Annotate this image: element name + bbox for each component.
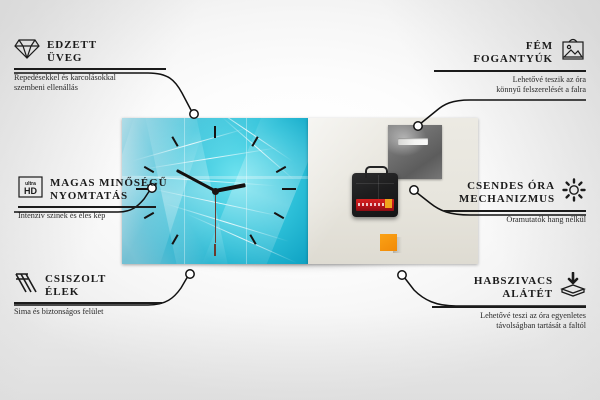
callout-title-line1: CSISZOLT <box>45 273 106 286</box>
second-hand <box>215 191 216 243</box>
callout-title-line2: ÜVEG <box>47 52 97 65</box>
callout-title-line1: HABSZIVACS <box>474 275 553 288</box>
callout-title-line2: ALÁTÉT <box>474 288 553 301</box>
clock-mechanism-housing <box>352 173 398 217</box>
callout-title-line2: ÉLEK <box>45 286 106 299</box>
picture-hanger-icon <box>560 38 586 67</box>
callout-rule <box>434 70 586 72</box>
callout-subtitle-line1: Lehetővé teszi az óra egyenletes <box>432 311 586 321</box>
gear-icon <box>562 178 586 207</box>
connector-dot-tempered-glass <box>190 110 198 118</box>
callout-rule <box>14 68 166 70</box>
callout-polished-edges: CSISZOLT ÉLEK Sima és biztonságos felüle… <box>14 272 162 317</box>
callout-tempered-glass: EDZETT ÜVEG Repedésekkel és karcolásokka… <box>14 38 166 93</box>
callout-subtitle-line2: szembeni ellenállás <box>14 83 166 93</box>
callout-title-line1: CSENDES ÓRA <box>459 180 555 193</box>
metal-hanger-plate <box>388 125 442 179</box>
callout-title-line2: NYOMTATÁS <box>50 190 167 203</box>
polished-edges-icon <box>14 272 38 299</box>
callout-rule <box>14 302 162 304</box>
foam-pad <box>380 234 397 251</box>
callout-rule <box>18 206 156 208</box>
callout-subtitle-line1: Sima és biztonságos felület <box>14 307 162 317</box>
callout-foam-spacer: HABSZIVACS ALÁTÉT Lehetővé teszi az óra … <box>432 272 586 331</box>
ultra-hd-icon: ultra HD <box>18 176 43 203</box>
hanger-slot <box>398 138 428 145</box>
callout-subtitle-line1: Óramutatók hang nélkül <box>444 215 586 225</box>
callout-title-line1: EDZETT <box>47 39 97 52</box>
callout-subtitle-line1: Lehetővé teszik az óra <box>434 75 586 85</box>
clock-hand-hub <box>212 188 219 195</box>
ultra-hd-icon-bottom: HD <box>24 186 37 196</box>
diamond-icon <box>14 38 40 65</box>
callout-subtitle-line1: Intenzív színek és éles kép <box>18 211 156 221</box>
mechanism-hanging-loop <box>365 166 388 178</box>
callout-subtitle-line2: könnyű felszerelését a falra <box>434 85 586 95</box>
callout-title-line2: MECHANIZMUS <box>459 193 555 206</box>
callout-silent-mechanism: CSENDES ÓRA MECHANIZMUS Óramutatók hang … <box>444 178 586 225</box>
foam-pad-arrow-icon <box>560 272 586 303</box>
callout-title-line1: MAGAS MINŐSÉGŰ <box>50 177 167 190</box>
battery-plus-terminal <box>385 199 392 208</box>
callout-high-quality-print: ultra HD MAGAS MINŐSÉGŰ NYOMTATÁS Intenz… <box>18 176 156 221</box>
callout-metal-handles: FÉM FOGANTYÚK Lehetővé teszik az óra kön… <box>434 38 586 95</box>
product-photo <box>122 118 478 264</box>
infographic-canvas: EDZETT ÜVEG Repedésekkel és karcolásokka… <box>0 0 600 400</box>
callout-rule <box>444 210 586 212</box>
callout-title-line2: FOGANTYÚK <box>473 53 553 66</box>
callout-title-line1: FÉM <box>473 40 553 53</box>
callout-rule <box>432 306 586 308</box>
callout-subtitle-line1: Repedésekkel és karcolásokkal <box>14 73 166 83</box>
callout-subtitle-line2: távolságban tartását a faltól <box>432 321 586 331</box>
